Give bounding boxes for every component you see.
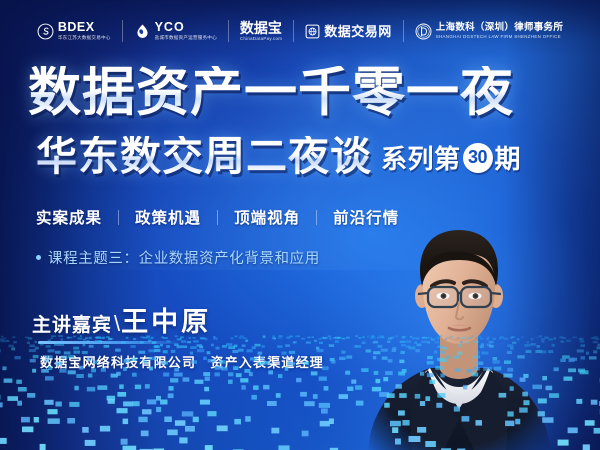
- logo-shujubao[interactable]: 数据宝 ChinaDataPay.com: [229, 16, 293, 46]
- speaker-portrait: [352, 204, 566, 450]
- logo-yco-subtitle: 盐城市数据资产运营服务中心: [155, 36, 217, 41]
- logo-bdex-subtitle: 华东江苏大数据交易中心: [58, 36, 111, 41]
- logo-law-firm-name: 上海数科（深圳）律师事务所: [436, 23, 563, 33]
- course-topic-text: 课程主题三：企业数据资产化背景和应用: [48, 247, 320, 268]
- droplet-icon: [134, 23, 151, 40]
- speaker-label: 主讲嘉宾: [32, 310, 112, 337]
- partner-logo-bar: BDEX 华东江苏大数据交易中心 YCO 盐城市数据资产运营服务中心 数据宝 C…: [0, 14, 600, 48]
- series-number-badge: 30: [463, 143, 493, 173]
- speaker-affiliation: 数据宝网络科技有限公司 资产入表渠道经理: [40, 352, 324, 371]
- poster-title-secondary-row: 华东数交周二夜谈 系列第 30 期: [36, 136, 521, 178]
- webinar-poster: BDEX 华东江苏大数据交易中心 YCO 盐城市数据资产运营服务中心 数据宝 C…: [0, 0, 600, 450]
- keyword-separator: ｜: [309, 207, 324, 228]
- keyword-item: 政策机遇: [135, 206, 201, 228]
- keyword-row: 实案成果 ｜ 政策机遇 ｜ 顶端视角 ｜ 前沿行情: [36, 206, 399, 228]
- logo-yco-name: YCO: [155, 21, 217, 34]
- speaker-name: 王中原: [121, 300, 211, 339]
- poster-title-secondary: 华东数交周二夜谈: [36, 136, 372, 177]
- keyword-separator: ｜: [210, 207, 225, 228]
- keyword-item: 前沿行情: [333, 206, 399, 228]
- keyword-item: 顶端视角: [234, 206, 300, 228]
- course-topic-line: 课程主题三：企业数据资产化背景和应用: [36, 247, 320, 268]
- logo-shujubao-subtitle: ChinaDataPay.com: [240, 37, 282, 41]
- keyword-separator: ｜: [111, 207, 126, 228]
- circle-d-icon: [415, 23, 432, 40]
- logo-shujubao-name: 数据宝: [240, 21, 282, 35]
- poster-title-main: 数据资产一千零一夜: [28, 66, 514, 119]
- series-label: 系列第 30 期: [381, 139, 521, 176]
- logo-yco[interactable]: YCO 盐城市数据资产运营服务中心: [123, 16, 228, 46]
- keyword-item: 实案成果: [36, 206, 102, 228]
- logo-law-firm[interactable]: 上海数科（深圳）律师事务所 SHANGHAI DGSTECH LAW FIRM …: [404, 16, 574, 46]
- series-suffix: 期: [495, 139, 522, 176]
- bullet-dot-icon: [36, 255, 41, 260]
- circle-s-icon: [37, 23, 54, 40]
- series-prefix: 系列第: [381, 139, 461, 176]
- speaker-underline: [38, 341, 178, 344]
- square-globe-icon: [305, 24, 320, 39]
- logo-data-exchange[interactable]: 数据交易网: [294, 16, 403, 46]
- logo-bdex-name: BDEX: [58, 21, 111, 34]
- logo-data-exchange-name: 数据交易网: [324, 25, 392, 38]
- logo-bdex[interactable]: BDEX 华东江苏大数据交易中心: [26, 16, 122, 46]
- logo-law-firm-subtitle: SHANGHAI DGSTECH LAW FIRM SHENZHEN OFFIC…: [436, 35, 563, 39]
- speaker-block: 主讲嘉宾 \ 王中原: [32, 300, 211, 339]
- speaker-slash: \: [114, 311, 120, 337]
